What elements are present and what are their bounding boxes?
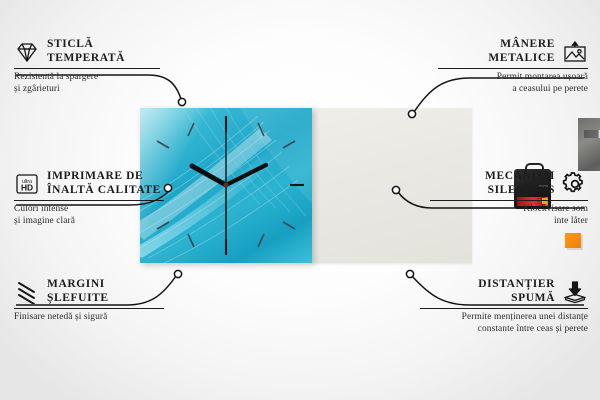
metal-hanger-plate	[578, 118, 600, 171]
feature-divider	[14, 200, 164, 201]
product-image	[140, 108, 472, 268]
feature-metal-handles: MÂNEREMETALICE Permit montarea ușoarăa c…	[438, 38, 588, 95]
feature-header: MARGINIȘLEFUITE	[14, 278, 164, 305]
feature-subtitle: Culori intenseși imagine clară	[14, 204, 164, 227]
svg-text:HD: HD	[21, 182, 33, 192]
feature-divider	[430, 200, 588, 201]
clock-hands	[140, 108, 312, 263]
feature-foam-spacer: DISTANȚIERSPUMĂ Permite menținerea unei …	[420, 278, 588, 335]
feature-subtitle: Permit montarea ușoarăa ceasului pe pere…	[438, 72, 588, 95]
feature-header: MÂNEREMETALICE	[438, 38, 588, 65]
clock-face	[140, 108, 312, 263]
feature-divider	[14, 308, 164, 309]
feature-silent-mechanism: MECANISMSILENȚIOS Klockvisare sominte lå…	[430, 170, 588, 227]
feature-title: MARGINIȘLEFUITE	[47, 278, 109, 305]
diagonal-lines-icon	[14, 280, 40, 304]
feature-high-quality-print: ultra HD IMPRIMARE DEÎNALTĂ CALITATE Cul…	[14, 170, 164, 227]
diamond-icon	[14, 40, 40, 64]
wire-dot-spacer	[406, 270, 413, 277]
feature-header: ultra HD IMPRIMARE DEÎNALTĂ CALITATE	[14, 170, 164, 197]
feature-subtitle: Klockvisare sominte låter	[430, 204, 588, 227]
ultra-hd-badge-icon: ultra HD	[14, 172, 40, 196]
feature-tempered-glass: STICLĂTEMPERATĂ Rezistentă la spargereși…	[14, 38, 160, 95]
feature-title: IMPRIMARE DEÎNALTĂ CALITATE	[47, 170, 161, 197]
feature-divider	[14, 68, 160, 69]
feature-subtitle: Permite menținerea unei distanțeconstant…	[420, 312, 588, 335]
feature-subtitle: Finisare netedă și sigură	[14, 312, 164, 324]
feature-title: MÂNEREMETALICE	[488, 38, 555, 65]
feature-subtitle: Rezistentă la spargereși zgârieturi	[14, 72, 160, 95]
feature-title: MECANISMSILENȚIOS	[485, 170, 555, 197]
hanger-slot	[584, 130, 600, 138]
feature-title: DISTANȚIERSPUMĂ	[478, 278, 555, 305]
feature-title: STICLĂTEMPERATĂ	[47, 38, 125, 65]
feature-divider	[438, 68, 588, 69]
feature-polished-edges: MARGINIȘLEFUITE Finisare netedă și sigur…	[14, 278, 164, 324]
gear-icon	[562, 172, 588, 196]
feature-header: DISTANȚIERSPUMĂ	[420, 278, 588, 305]
wire-dot-tempered-glass	[178, 98, 185, 105]
foam-spacer-pad	[565, 233, 581, 248]
wire-dot-edges	[174, 270, 181, 277]
infographic-canvas: STICLĂTEMPERATĂ Rezistentă la spargereși…	[0, 0, 600, 400]
picture-frame-hanging-icon	[562, 40, 588, 64]
feature-divider	[420, 308, 588, 309]
arrow-down-onto-pad-icon	[562, 280, 588, 304]
feature-header: MECANISMSILENȚIOS	[430, 170, 588, 197]
feature-header: STICLĂTEMPERATĂ	[14, 38, 160, 65]
